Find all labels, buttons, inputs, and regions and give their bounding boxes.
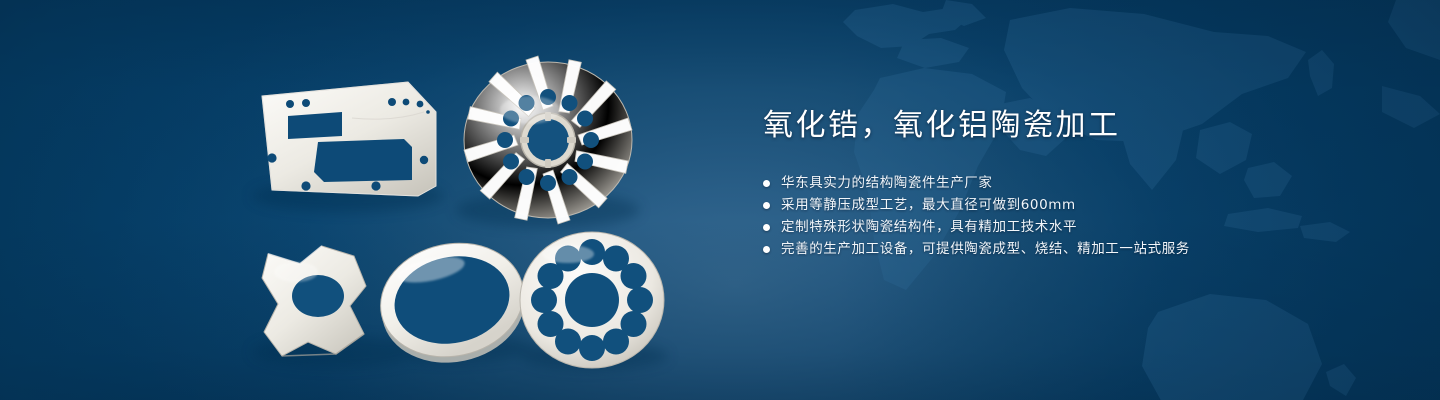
bullet-dot-icon	[763, 224, 770, 231]
feature-item-text: 华东具实力的结构陶瓷件生产厂家	[781, 172, 993, 194]
feature-item-text: 采用等静压成型工艺，最大直径可做到600mm	[781, 194, 1076, 216]
bullet-dot-icon	[763, 202, 770, 209]
ceramic-mounting-plate	[262, 82, 436, 196]
feature-item: 定制特殊形状陶瓷结构件，具有精加工技术水平	[763, 216, 1383, 238]
feature-item-text: 定制特殊形状陶瓷结构件，具有精加工技术水平	[781, 216, 1077, 238]
feature-item: 采用等静压成型工艺，最大直径可做到600mm	[763, 194, 1383, 216]
feature-item: 华东具实力的结构陶瓷件生产厂家	[763, 172, 1383, 194]
bullet-dot-icon	[763, 180, 770, 187]
ceramic-impeller	[464, 56, 632, 224]
ceramic-cross-part	[262, 246, 366, 356]
feature-item-text: 完善的生产加工设备，可提供陶瓷成型、烧结、精加工一站式服务	[781, 238, 1190, 260]
ceramic-products-image	[0, 0, 740, 400]
feature-item: 完善的生产加工设备，可提供陶瓷成型、烧结、精加工一站式服务	[763, 238, 1383, 260]
hero-banner: 氧化锆，氧化铝陶瓷加工 华东具实力的结构陶瓷件生产厂家 采用等静压成型工艺，最大…	[0, 0, 1440, 400]
banner-headline: 氧化锆，氧化铝陶瓷加工	[763, 106, 1383, 146]
ceramic-perforated-disc	[520, 232, 664, 368]
bullet-dot-icon	[763, 246, 770, 253]
banner-copy: 氧化锆，氧化铝陶瓷加工 华东具实力的结构陶瓷件生产厂家 采用等静压成型工艺，最大…	[763, 106, 1383, 260]
feature-list: 华东具实力的结构陶瓷件生产厂家 采用等静压成型工艺，最大直径可做到600mm 定…	[763, 172, 1383, 260]
